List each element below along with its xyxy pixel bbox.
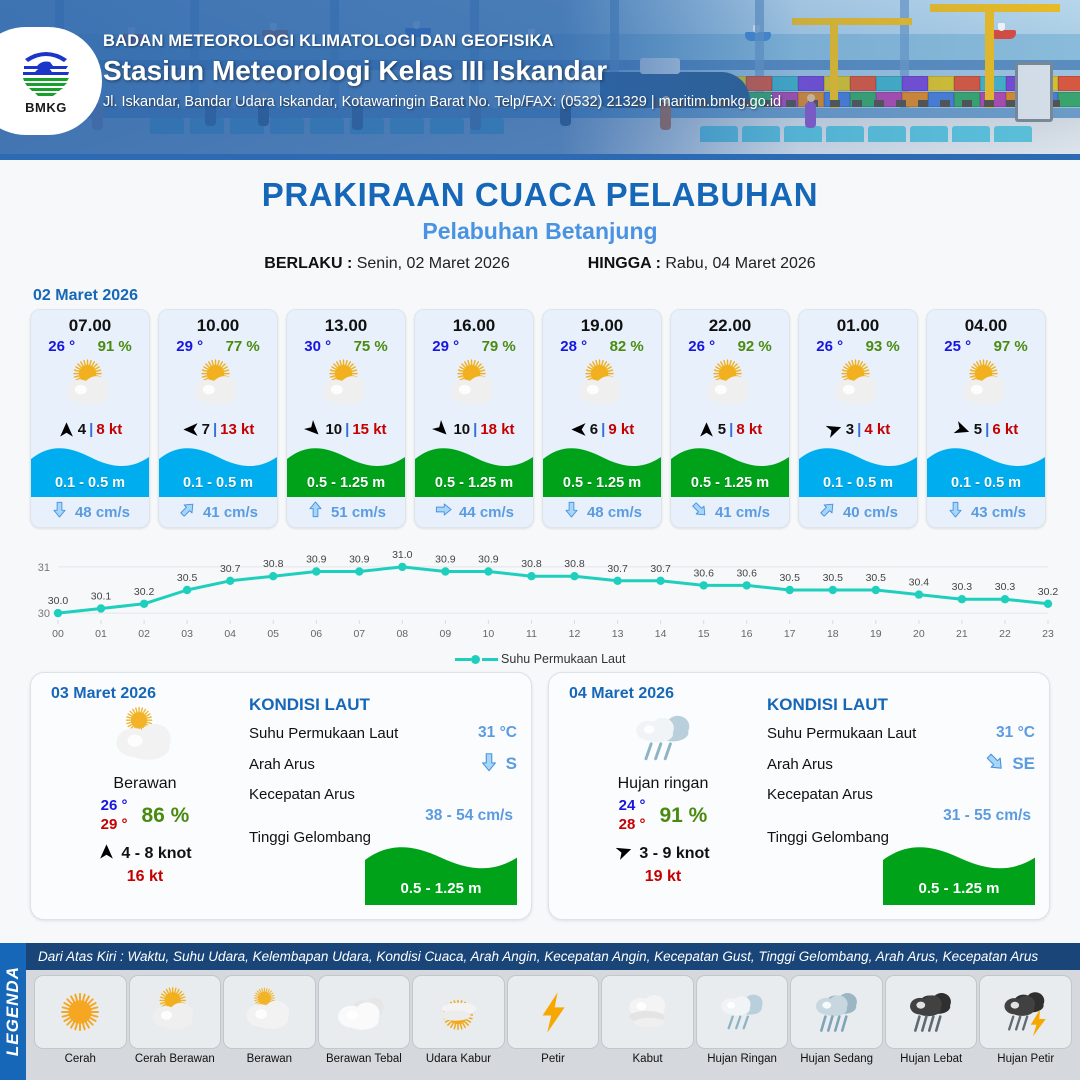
forecast-time: 07.00 [31, 310, 149, 337]
legend-item-row: Cerah Cerah Berawan Berawan Berawan Teba… [26, 970, 1080, 1065]
legend-item-label: Berawan [223, 1053, 316, 1065]
legend-item-label: Hujan Ringan [696, 1053, 789, 1065]
svg-text:23: 23 [1042, 628, 1054, 640]
cerah-berawan-icon [799, 357, 917, 415]
wave-height-block: 0.1 - 0.5 m [799, 443, 917, 497]
wind-row: 10 | 15 kt [287, 415, 405, 443]
bmkg-logo-mark [17, 47, 75, 99]
svg-text:30.2: 30.2 [1038, 586, 1059, 598]
svg-text:30.5: 30.5 [779, 572, 800, 584]
daily-wind-row: 3 - 9 knot [563, 843, 763, 865]
wind-separator: | [89, 421, 93, 438]
humidity: 91 % [98, 338, 132, 355]
svg-text:30.0: 30.0 [48, 595, 69, 607]
current-direction-arrow-icon [50, 500, 69, 524]
daily-temp-min: 26 ° [101, 797, 128, 816]
humidity: 79 % [482, 338, 516, 355]
legend-item: Hujan Petir [979, 975, 1072, 1065]
daily-wind-gust: 19 kt [563, 868, 763, 886]
wave-height-value: 0.5 - 1.25 m [365, 880, 517, 897]
legend-item: Udara Kabur [412, 975, 505, 1065]
wind-direction-arrow-icon [305, 421, 322, 438]
wind-speed: 6 [590, 421, 598, 438]
air-temperature: 26 ° [816, 338, 843, 355]
svg-text:30.8: 30.8 [263, 558, 284, 570]
forecast-time: 04.00 [927, 310, 1045, 337]
humidity: 75 % [354, 338, 388, 355]
current-direction-group: SE [984, 751, 1035, 777]
wave-height-value: 0.5 - 1.25 m [287, 475, 405, 491]
svg-text:04: 04 [224, 628, 236, 640]
sea-row-value: 31 °C [478, 724, 517, 742]
cerah-berawan-icon [31, 357, 149, 415]
wind-speed: 10 [325, 421, 342, 438]
wave-height-value: 0.1 - 0.5 m [799, 475, 917, 491]
valid-until: HINGGA : Rabu, 04 Maret 2026 [588, 255, 816, 273]
current-speed: 48 cm/s [75, 504, 130, 521]
humidity: 77 % [226, 338, 260, 355]
svg-text:21: 21 [956, 628, 968, 640]
svg-text:31.0: 31.0 [392, 549, 413, 561]
wind-gust: 13 kt [220, 421, 254, 438]
svg-text:03: 03 [181, 628, 193, 640]
page-subtitle: Pelabuhan Betanjung [0, 218, 1080, 245]
current-row: 44 cm/s [415, 497, 533, 527]
forecast-card[interactable]: 19.00 28 ° 82 % 6 | 9 kt 0.5 - 1.25 m 48… [542, 309, 662, 528]
forecast-temp-humidity: 26 ° 91 % [31, 337, 149, 357]
daily-humidity: 86 % [141, 804, 189, 828]
cerah-icon [34, 975, 127, 1049]
legend-item-label: Berawan Tebal [318, 1053, 411, 1065]
wave-height-block: 0.5 - 1.25 m [671, 443, 789, 497]
daily-temp-max: 29 ° [101, 816, 128, 835]
forecast-temp-humidity: 25 ° 97 % [927, 337, 1045, 357]
wind-row: 10 | 18 kt [415, 415, 533, 443]
current-direction-label: S [506, 754, 517, 774]
air-temperature: 26 ° [688, 338, 715, 355]
legend-item: Berawan [223, 975, 316, 1065]
air-temperature: 29 ° [432, 338, 459, 355]
current-direction-arrow-icon [690, 500, 709, 524]
current-speed: 48 cm/s [587, 504, 642, 521]
wind-gust: 8 kt [96, 421, 122, 438]
air-temperature: 29 ° [176, 338, 203, 355]
legend-item-label: Petir [507, 1053, 600, 1065]
wave-height-value: 0.5 - 1.25 m [883, 880, 1035, 897]
sea-row-label: Suhu Permukaan Laut [249, 725, 398, 742]
forecast-card[interactable]: 10.00 29 ° 77 % 7 | 13 kt 0.1 - 0.5 m 41… [158, 309, 278, 528]
legend-item: Petir [507, 975, 600, 1065]
current-speed: 40 cm/s [843, 504, 898, 521]
wind-separator: | [473, 421, 477, 438]
daily-forecast-panel[interactable]: 04 Maret 2026 Hujan ringan 24 ° 28 ° 91 … [548, 672, 1050, 920]
valid-from-value: Senin, 02 Maret 2026 [357, 255, 510, 272]
wind-gust: 6 kt [992, 421, 1018, 438]
legend-item-label: Udara Kabur [412, 1053, 505, 1065]
hujan-ringan-icon [696, 975, 789, 1049]
forecast-card[interactable]: 22.00 26 ° 92 % 5 | 8 kt 0.5 - 1.25 m 41… [670, 309, 790, 528]
wind-gust: 18 kt [480, 421, 514, 438]
legend-item: Berawan Tebal [318, 975, 411, 1065]
legend-line-swatch [455, 658, 471, 661]
current-speed: 44 cm/s [459, 504, 514, 521]
svg-text:14: 14 [655, 628, 667, 640]
header-text-block: BADAN METEOROLOGI KLIMATOLOGI DAN GEOFIS… [103, 32, 781, 110]
wave-height-block: 0.1 - 0.5 m [159, 443, 277, 497]
forecast-time: 01.00 [799, 310, 917, 337]
daily-temp-min: 24 ° [619, 797, 646, 816]
sea-row-label: Arah Arus [767, 756, 833, 773]
svg-text:30.5: 30.5 [823, 572, 844, 584]
svg-text:09: 09 [440, 628, 452, 640]
daily-forecast-panels: 03 Maret 2026 Berawan 26 ° 29 ° 86 % 4 -… [0, 672, 1080, 920]
current-speed-value: 31 - 55 cm/s [943, 807, 1031, 825]
station-name: Stasiun Meteorologi Kelas III Iskandar [103, 55, 781, 87]
current-row: 41 cm/s [159, 497, 277, 527]
sea-row-value: 31 °C [996, 724, 1035, 742]
forecast-card-row: 07.00 26 ° 91 % 4 | 8 kt 0.1 - 0.5 m 48 … [0, 309, 1080, 528]
sea-conditions-title: KONDISI LAUT [767, 695, 1035, 715]
current-direction-arrow-icon [306, 500, 325, 524]
wind-speed: 5 [974, 421, 982, 438]
daily-forecast-panel[interactable]: 03 Maret 2026 Berawan 26 ° 29 ° 86 % 4 -… [30, 672, 532, 920]
current-row: 40 cm/s [799, 497, 917, 527]
svg-text:30.3: 30.3 [952, 581, 973, 593]
current-row: 51 cm/s [287, 497, 405, 527]
forecast-card[interactable]: 16.00 29 ° 79 % 10 | 18 kt 0.5 - 1.25 m … [414, 309, 534, 528]
daily-summary: 03 Maret 2026 Berawan 26 ° 29 ° 86 % 4 -… [45, 685, 245, 907]
legend-tab: LEGENDA [0, 943, 26, 1080]
udara-kabur-icon [412, 975, 505, 1049]
hujan-petir-icon [979, 975, 1072, 1049]
svg-text:07: 07 [353, 628, 365, 640]
wind-row: 5 | 8 kt [671, 415, 789, 443]
wind-row: 4 | 8 kt [31, 415, 149, 443]
svg-text:30.7: 30.7 [650, 563, 671, 575]
svg-text:30: 30 [38, 608, 50, 620]
forecast-card[interactable]: 01.00 26 ° 93 % 3 | 4 kt 0.1 - 0.5 m 40 … [798, 309, 918, 528]
valid-until-value: Rabu, 04 Maret 2026 [665, 255, 815, 272]
daily-humidity: 91 % [659, 804, 707, 828]
svg-text:13: 13 [612, 628, 624, 640]
wind-speed: 10 [453, 421, 470, 438]
humidity: 82 % [610, 338, 644, 355]
forecast-card[interactable]: 07.00 26 ° 91 % 4 | 8 kt 0.1 - 0.5 m 48 … [30, 309, 150, 528]
svg-text:30.9: 30.9 [349, 554, 370, 566]
sea-row-label: Tinggi Gelombang [767, 829, 889, 846]
wave-height-block: 0.5 - 1.25 m [365, 841, 517, 905]
legend-section: LEGENDA Dari Atas Kiri : Waktu, Suhu Uda… [0, 943, 1080, 1080]
wave-height-value: 0.5 - 1.25 m [543, 475, 661, 491]
wind-separator: | [985, 421, 989, 438]
forecast-time: 13.00 [287, 310, 405, 337]
agency-name: BADAN METEOROLOGI KLIMATOLOGI DAN GEOFIS… [103, 32, 781, 51]
legend-item-label: Kabut [601, 1053, 694, 1065]
petir-icon [507, 975, 600, 1049]
current-direction-arrow-icon [984, 751, 1006, 777]
bmkg-logo-text: BMKG [25, 100, 67, 115]
forecast-temp-humidity: 29 ° 77 % [159, 337, 277, 357]
daily-temp-humidity: 24 ° 28 ° 91 % [563, 797, 763, 835]
forecast-time: 22.00 [671, 310, 789, 337]
svg-text:01: 01 [95, 628, 107, 640]
current-row: 43 cm/s [927, 497, 1045, 527]
valid-from-label: BERLAKU : [264, 255, 352, 272]
current-speed: 41 cm/s [203, 504, 258, 521]
berawan-icon [223, 975, 316, 1049]
svg-text:30.9: 30.9 [435, 554, 456, 566]
sea-conditions: KONDISI LAUT Suhu Permukaan Laut 31 °C A… [245, 685, 517, 907]
sea-row-label: Kecepatan Arus [249, 786, 355, 803]
air-temperature: 28 ° [560, 338, 587, 355]
daily-temp-max: 28 ° [619, 816, 646, 835]
cerah-berawan-icon [927, 357, 1045, 415]
wind-gust: 15 kt [352, 421, 386, 438]
station-address: Jl. Iskandar, Bandar Udara Iskandar, Kot… [103, 94, 781, 110]
daily-condition: Berawan [45, 775, 245, 793]
legend-item: Hujan Ringan [696, 975, 789, 1065]
sea-conditions: KONDISI LAUT Suhu Permukaan Laut 31 °C A… [763, 685, 1035, 907]
wind-row: 3 | 4 kt [799, 415, 917, 443]
svg-text:30.4: 30.4 [909, 577, 930, 589]
wind-separator: | [213, 421, 217, 438]
svg-text:30.2: 30.2 [134, 586, 155, 598]
legend-item-label: Cerah [34, 1053, 127, 1065]
legend-item: Cerah Berawan [129, 975, 222, 1065]
sea-row-label: Kecepatan Arus [767, 786, 873, 803]
legend-item: Cerah [34, 975, 127, 1065]
title-block: PRAKIRAAN CUACA PELABUHAN Pelabuhan Beta… [0, 176, 1080, 273]
validity-row: BERLAKU : Senin, 02 Maret 2026 HINGGA : … [0, 255, 1080, 273]
hujan-ringan-icon [563, 705, 763, 771]
svg-text:30.8: 30.8 [564, 558, 585, 570]
svg-text:06: 06 [310, 628, 322, 640]
wind-direction-arrow-icon [98, 843, 115, 865]
legend-line-swatch-2 [482, 658, 498, 661]
wind-direction-arrow-icon [698, 421, 715, 438]
wave-height-block: 0.5 - 1.25 m [287, 443, 405, 497]
forecast-time: 10.00 [159, 310, 277, 337]
current-speed-value: 38 - 54 cm/s [425, 807, 513, 825]
current-speed: 41 cm/s [715, 504, 770, 521]
sea-row-sst: Suhu Permukaan Laut 31 °C [767, 724, 1035, 742]
legend-item: Hujan Sedang [790, 975, 883, 1065]
wind-direction-arrow-icon [616, 843, 633, 865]
forecast-temp-humidity: 30 ° 75 % [287, 337, 405, 357]
header-bottom-rule [0, 154, 1080, 160]
wave-height-value: 0.1 - 0.5 m [31, 475, 149, 491]
current-row: 48 cm/s [543, 497, 661, 527]
svg-text:08: 08 [396, 628, 408, 640]
svg-text:30.1: 30.1 [91, 591, 112, 603]
daily-temperature-range: 26 ° 29 ° [101, 797, 128, 835]
wave-height-block: 0.5 - 1.25 m [543, 443, 661, 497]
wave-height-value: 0.1 - 0.5 m [927, 475, 1045, 491]
daily-temperature-range: 24 ° 28 ° [619, 797, 646, 835]
wind-direction-arrow-icon [826, 421, 843, 438]
cerah-berawan-icon [129, 975, 222, 1049]
wind-gust: 9 kt [608, 421, 634, 438]
berawan-tebal-icon [318, 975, 411, 1049]
wind-gust: 4 kt [864, 421, 890, 438]
current-direction-arrow-icon [946, 500, 965, 524]
sea-row-current-direction: Arah Arus S [249, 751, 517, 777]
daily-wind-row: 4 - 8 knot [45, 843, 245, 865]
daily-temp-humidity: 26 ° 29 ° 86 % [45, 797, 245, 835]
legend-item-label: Hujan Petir [979, 1053, 1072, 1065]
wind-row: 7 | 13 kt [159, 415, 277, 443]
legend-body: Dari Atas Kiri : Waktu, Suhu Udara, Kele… [26, 943, 1080, 1080]
forecast-temp-humidity: 29 ° 79 % [415, 337, 533, 357]
sea-row-label: Tinggi Gelombang [249, 829, 371, 846]
svg-text:16: 16 [741, 628, 753, 640]
current-direction-arrow-icon [178, 500, 197, 524]
svg-text:30.6: 30.6 [736, 567, 757, 579]
current-speed: 51 cm/s [331, 504, 386, 521]
cerah-berawan-icon [543, 357, 661, 415]
legend-tab-label: LEGENDA [3, 966, 23, 1056]
kabut-icon [601, 975, 694, 1049]
air-temperature: 25 ° [944, 338, 971, 355]
wind-direction-arrow-icon [433, 421, 450, 438]
svg-text:30.7: 30.7 [220, 563, 241, 575]
humidity: 93 % [866, 338, 900, 355]
wave-height-value: 0.1 - 0.5 m [159, 475, 277, 491]
sea-row-label: Suhu Permukaan Laut [767, 725, 916, 742]
forecast-time: 16.00 [415, 310, 533, 337]
current-direction-arrow-icon [478, 751, 500, 777]
svg-text:30.9: 30.9 [478, 554, 499, 566]
daily-summary: 04 Maret 2026 Hujan ringan 24 ° 28 ° 91 … [563, 685, 763, 907]
wind-direction-arrow-icon [182, 421, 199, 438]
svg-text:30.8: 30.8 [521, 558, 542, 570]
svg-text:02: 02 [138, 628, 150, 640]
svg-text:30.3: 30.3 [995, 581, 1016, 593]
wind-speed: 3 [846, 421, 854, 438]
wind-speed: 4 [78, 421, 86, 438]
current-direction-arrow-icon [562, 500, 581, 524]
svg-text:18: 18 [827, 628, 839, 640]
sea-row-current-direction: Arah Arus SE [767, 751, 1035, 777]
cerah-berawan-icon [671, 357, 789, 415]
sea-row-label: Arah Arus [249, 756, 315, 773]
humidity: 92 % [738, 338, 772, 355]
wind-direction-arrow-icon [954, 421, 971, 438]
hujan-lebat-icon [885, 975, 978, 1049]
current-speed: 43 cm/s [971, 504, 1026, 521]
wave-height-block: 0.5 - 1.25 m [415, 443, 533, 497]
wind-direction-arrow-icon [570, 421, 587, 438]
forecast-temp-humidity: 26 ° 92 % [671, 337, 789, 357]
forecast-temp-humidity: 26 ° 93 % [799, 337, 917, 357]
legend-item: Kabut [601, 975, 694, 1065]
svg-text:12: 12 [569, 628, 581, 640]
svg-text:20: 20 [913, 628, 925, 640]
wind-gust: 8 kt [736, 421, 762, 438]
wave-height-block: 0.1 - 0.5 m [927, 443, 1045, 497]
legend-item-label: Hujan Lebat [885, 1053, 978, 1065]
wind-row: 5 | 6 kt [927, 415, 1045, 443]
sea-surface-temperature-chart: 3031 30.030.130.230.530.730.830.930.931.… [0, 538, 1080, 658]
wave-height-value: 0.5 - 1.25 m [415, 475, 533, 491]
sea-row-current-speed: Kecepatan Arus [767, 786, 1035, 803]
hujan-sedang-icon [790, 975, 883, 1049]
wind-speed: 5 [718, 421, 726, 438]
wave-height-value: 0.5 - 1.25 m [671, 475, 789, 491]
valid-from: BERLAKU : Senin, 02 Maret 2026 [264, 255, 509, 273]
svg-text:30.6: 30.6 [693, 567, 714, 579]
current-row: 41 cm/s [671, 497, 789, 527]
page-header: BMKG BADAN METEOROLOGI KLIMATOLOGI DAN G… [0, 0, 1080, 160]
sea-conditions-title: KONDISI LAUT [249, 695, 517, 715]
svg-text:22: 22 [999, 628, 1011, 640]
svg-text:19: 19 [870, 628, 882, 640]
wave-height-block: 0.5 - 1.25 m [883, 841, 1035, 905]
wind-separator: | [857, 421, 861, 438]
forecast-card[interactable]: 13.00 30 ° 75 % 10 | 15 kt 0.5 - 1.25 m … [286, 309, 406, 528]
air-temperature: 30 ° [304, 338, 331, 355]
daily-wind-gust: 16 kt [45, 868, 245, 886]
wind-separator: | [729, 421, 733, 438]
sea-row-current-speed: Kecepatan Arus [249, 786, 517, 803]
current-row: 48 cm/s [31, 497, 149, 527]
svg-text:30.5: 30.5 [177, 572, 198, 584]
legend-note: Dari Atas Kiri : Waktu, Suhu Udara, Kele… [26, 943, 1080, 970]
svg-text:00: 00 [52, 628, 64, 640]
legend-item-label: Cerah Berawan [129, 1053, 222, 1065]
legend-item: Hujan Lebat [885, 975, 978, 1065]
svg-text:30.9: 30.9 [306, 554, 327, 566]
wind-row: 6 | 9 kt [543, 415, 661, 443]
sea-row-sst: Suhu Permukaan Laut 31 °C [249, 724, 517, 742]
current-direction-label: SE [1012, 754, 1035, 774]
svg-text:31: 31 [38, 562, 50, 574]
current-direction-arrow-icon [818, 500, 837, 524]
forecast-temp-humidity: 28 ° 82 % [543, 337, 661, 357]
svg-text:05: 05 [267, 628, 279, 640]
wind-direction-arrow-icon [58, 421, 75, 438]
valid-until-label: HINGGA : [588, 255, 661, 272]
legend-item-label: Hujan Sedang [790, 1053, 883, 1065]
forecast-date-label: 02 Maret 2026 [33, 287, 1080, 305]
wind-separator: | [345, 421, 349, 438]
daily-wind-range: 4 - 8 knot [121, 845, 191, 863]
svg-text:30.5: 30.5 [866, 572, 887, 584]
daily-condition: Hujan ringan [563, 775, 763, 793]
current-direction-group: S [478, 751, 517, 777]
forecast-time: 19.00 [543, 310, 661, 337]
svg-text:15: 15 [698, 628, 710, 640]
svg-text:10: 10 [483, 628, 495, 640]
air-temperature: 26 ° [48, 338, 75, 355]
wave-height-block: 0.1 - 0.5 m [31, 443, 149, 497]
forecast-card[interactable]: 04.00 25 ° 97 % 5 | 6 kt 0.1 - 0.5 m 43 … [926, 309, 1046, 528]
svg-text:11: 11 [526, 628, 537, 640]
wind-separator: | [601, 421, 605, 438]
cerah-berawan-icon [415, 357, 533, 415]
svg-text:30.7: 30.7 [607, 563, 628, 575]
berawan-icon [45, 705, 245, 771]
cerah-berawan-icon [159, 357, 277, 415]
page-title: PRAKIRAAN CUACA PELABUHAN [0, 176, 1080, 214]
cerah-berawan-icon [287, 357, 405, 415]
wind-speed: 7 [202, 421, 210, 438]
svg-text:17: 17 [784, 628, 796, 640]
humidity: 97 % [994, 338, 1028, 355]
daily-wind-range: 3 - 9 knot [639, 845, 709, 863]
current-direction-arrow-icon [434, 500, 453, 524]
